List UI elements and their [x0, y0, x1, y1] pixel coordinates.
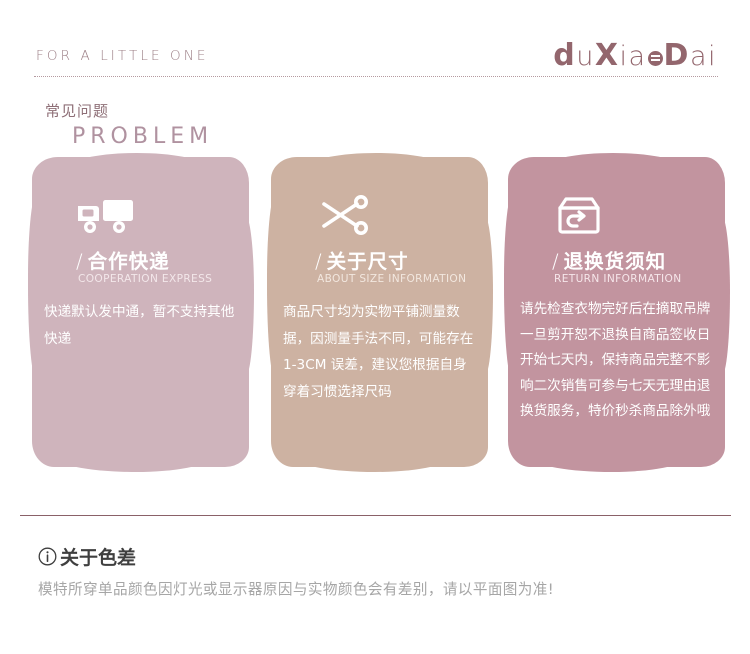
color-note-heading: 关于色差 [38, 543, 136, 570]
color-note-heading-text: 关于色差 [60, 543, 136, 570]
color-note-body: 模特所穿单品颜色因灯光或显示器原因与实物颜色会有差别，请以平面图为准! [38, 578, 554, 599]
card-edge-left [28, 191, 44, 381]
card-edge-left [267, 191, 283, 381]
card-edge-left [504, 191, 520, 381]
page-header: FOR A LITTLE ONE duXiaDai [0, 0, 750, 80]
card-body-size: 商品尺寸均为实物平铺测量数据，因测量手法不同，可能存在 1-3CM 误差，建议您… [283, 299, 479, 405]
faq-card-return: /退换货须知 RETURN INFORMATION 请先检查衣物完好后在摘取吊牌… [508, 157, 725, 467]
truck-icon [78, 192, 136, 242]
card-title-slash: / [552, 250, 560, 273]
brand-logo-d: D [664, 38, 690, 73]
brand-tagline: FOR A LITTLE ONE [36, 48, 209, 64]
card-body-express: 快递默认发中通，暂不支持其他快递 [44, 299, 240, 352]
section-title-en: PROBLEM [72, 124, 213, 149]
bottom-divider [20, 515, 731, 516]
card-edge-bottom [297, 458, 447, 472]
card-title-return: /退换货须知 [552, 245, 666, 274]
card-edge-right [238, 215, 254, 375]
card-edge-bottom [534, 458, 684, 472]
card-edge-right [714, 215, 730, 375]
card-title-text: 退换货须知 [564, 250, 667, 273]
card-title-slash: / [315, 250, 323, 273]
card-edge-top [311, 153, 441, 166]
faq-card-express: /合作快递 COOPERATION EXPRESS 快递默认发中通，暂不支持其他… [32, 157, 249, 467]
card-edge-bottom [58, 458, 208, 472]
card-body-return: 请先检查衣物完好后在摘取吊牌 一旦剪开恕不退换自商品签收日开始七天内，保持商品完… [520, 297, 716, 425]
card-title-text: 关于尺寸 [327, 250, 409, 273]
return-box-icon [554, 192, 612, 242]
card-subtitle-express: COOPERATION EXPRESS [78, 273, 212, 285]
card-subtitle-return: RETURN INFORMATION [554, 273, 682, 285]
card-edge-top [548, 153, 678, 166]
brand-logo-dot [648, 51, 663, 66]
header-divider [34, 76, 718, 77]
card-title-text: 合作快递 [88, 250, 170, 273]
faq-card-group: /合作快递 COOPERATION EXPRESS 快递默认发中通，暂不支持其他… [0, 157, 750, 472]
card-edge-right [477, 215, 493, 375]
section-title-cn: 常见问题 [45, 100, 109, 121]
faq-card-size: /关于尺寸 ABOUT SIZE INFORMATION 商品尺寸均为实物平铺测… [271, 157, 488, 467]
brand-logo-i: i [708, 41, 717, 72]
card-title-size: /关于尺寸 [315, 245, 409, 274]
brand-logo: duXiaDai [553, 38, 717, 73]
info-circle-icon [38, 547, 57, 566]
brand-logo-x: X [595, 38, 620, 73]
card-title-express: /合作快递 [76, 245, 170, 274]
brand-logo-text: d [553, 38, 576, 73]
card-edge-top [72, 153, 202, 166]
card-subtitle-size: ABOUT SIZE INFORMATION [317, 273, 466, 285]
card-title-slash: / [76, 250, 84, 273]
scissors-icon [317, 192, 375, 242]
